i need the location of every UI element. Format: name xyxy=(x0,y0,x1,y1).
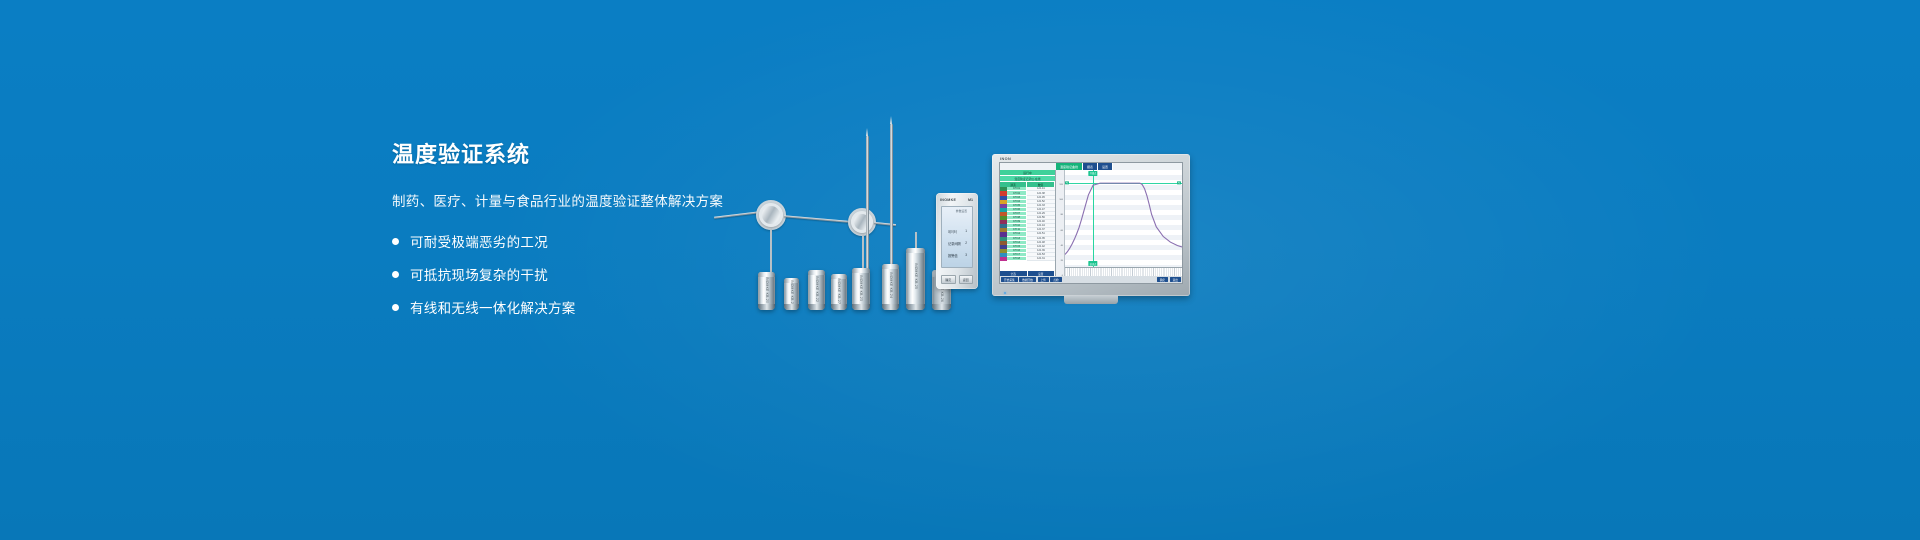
row-channel: CH 18 xyxy=(1007,257,1027,261)
probe-base xyxy=(808,304,825,310)
hero-banner: 温度验证系统 制药、医疗、计量与食品行业的温度验证整体解决方案 可耐受极端恶劣的… xyxy=(0,0,1920,540)
y-tick-label: 140 xyxy=(1059,169,1063,171)
row-color-swatch xyxy=(1000,257,1007,261)
bullet-dot-icon xyxy=(392,304,399,311)
tabbar-spacer-left xyxy=(1000,163,1056,170)
chart-series-svg xyxy=(1065,170,1182,267)
probe-cap xyxy=(906,248,925,253)
sensor-probe: INOMKE KB-24 xyxy=(882,264,899,310)
confirm-button[interactable]: 确定 xyxy=(1157,277,1168,283)
software-tabbar: 温度验证曲线 报表 设置 xyxy=(1000,163,1182,170)
list-item: 可抵抗现场复杂的干扰 xyxy=(392,264,792,284)
probe-label: INOMKE KB-27 xyxy=(837,278,841,304)
y-tick-label: 20 xyxy=(1061,260,1063,262)
y-tick-label: 80 xyxy=(1061,214,1063,216)
probe-label: INOMKE KB-24 xyxy=(889,272,893,298)
playback-button[interactable]: 数据回放 xyxy=(1019,277,1036,283)
handheld-row-value: 1 xyxy=(965,229,967,234)
probe-cap xyxy=(882,264,899,269)
y-tick-label: 40 xyxy=(1061,245,1063,247)
monitor-stand xyxy=(1064,296,1118,304)
handheld-row: 데이터 1 xyxy=(948,229,967,234)
channel-table: 运行中 温度验证记录仪-在线 通道 数值 CH 01121.41CH 02121… xyxy=(1000,170,1056,276)
table-body: CH 01121.41CH 02121.38CH 03121.45CH 0412… xyxy=(1000,187,1055,271)
bullet-dot-icon xyxy=(392,271,399,278)
upload-button[interactable]: 上传 xyxy=(1038,277,1049,283)
sensor-probe: INOMKE KB-23 xyxy=(852,268,870,310)
feature-label: 有线和无线一体化解决方案 xyxy=(410,297,576,317)
software-bottom-toolbar: 开始采集 数据回放 上传 点检 确定 退出 xyxy=(1000,276,1182,283)
page-title: 温度验证系统 xyxy=(392,142,792,168)
probe-label: INOMKE KB-22 xyxy=(815,276,819,302)
probe-label: INOMKE KB-25 xyxy=(914,263,918,289)
sensor-probe: INOMKE KB-27 xyxy=(831,274,847,310)
hero-copy: 温度验证系统 制药、医疗、计量与食品行业的温度验证整体解决方案 可耐受极端恶劣的… xyxy=(392,142,792,330)
software-body: 运行中 温度验证记录仪-在线 通道 数值 CH 01121.41CH 02121… xyxy=(1000,170,1182,276)
page-subtitle: 制药、医疗、计量与食品行业的温度验证整体解决方案 xyxy=(392,190,792,210)
handheld-screen: 参数设置 데이터 1 记录间隔 2 报警值 3 xyxy=(941,206,973,268)
y-tick-label: 0 xyxy=(1062,275,1063,277)
sensor-probe: INOMKE KB-25 xyxy=(906,248,925,310)
tab-settings[interactable]: 设置 xyxy=(1098,163,1113,170)
monitor-brand: INON xyxy=(1000,157,1011,161)
handheld-screen-title: 参数设置 xyxy=(956,209,967,213)
handheld-reader-device[interactable]: INOMKE M1 参数设置 데이터 1 记录间隔 2 报警值 3 确定 xyxy=(936,193,978,289)
probe-base xyxy=(831,304,847,310)
toolbar-gap xyxy=(1063,277,1155,283)
needle-probe-taller xyxy=(890,124,893,272)
check-button[interactable]: 点检 xyxy=(1050,277,1061,283)
feature-label: 可耐受极端恶劣的工况 xyxy=(410,231,548,251)
list-item: 有线和无线一体化解决方案 xyxy=(392,297,792,317)
handheld-row-value: 3 xyxy=(965,253,967,258)
feature-list: 可耐受极端恶劣的工况 可抵抗现场复杂的干扰 有线和无线一体化解决方案 xyxy=(392,231,792,317)
chart-x-axis[interactable] xyxy=(1065,267,1182,276)
panel-monitor: INON 温度验证曲线 报表 设置 运行中 温度验证记录仪-在线 xyxy=(992,154,1190,296)
bullet-dot-icon xyxy=(392,238,399,245)
handheld-brand: INOMKE xyxy=(940,198,956,202)
temperature-chart: 020406080100120140 F0 F0 开始点 结束点 xyxy=(1056,170,1182,276)
power-led-icon xyxy=(1004,292,1006,294)
needle-probe-tall xyxy=(866,136,869,272)
probe-label: INOMKE KB-23 xyxy=(859,275,863,301)
handheld-row-label: 记录间隔 xyxy=(948,241,961,246)
probe-base xyxy=(882,304,899,310)
handheld-row-value: 2 xyxy=(965,241,967,246)
table-row[interactable]: CH 18121.31 xyxy=(1000,257,1055,261)
probe-stem xyxy=(915,232,917,248)
probe-cap xyxy=(852,268,870,273)
handheld-row: 报警值 3 xyxy=(948,253,967,258)
handheld-row-label: 报警值 xyxy=(948,253,958,258)
chart-plot-area: F0 F0 开始点 结束点 xyxy=(1065,170,1182,267)
probe-base xyxy=(932,304,951,310)
y-tick-label: 120 xyxy=(1059,184,1063,186)
sensor-probe: INOMKE KB-22 xyxy=(808,270,825,310)
handheld-row-label: 데이터 xyxy=(948,229,957,234)
list-item: 可耐受极端恶劣的工况 xyxy=(392,231,792,251)
handheld-back-button[interactable]: 返回 xyxy=(959,275,974,284)
probe-base xyxy=(852,304,870,310)
handheld-confirm-button[interactable]: 确定 xyxy=(941,275,956,284)
handheld-model: M1 xyxy=(968,198,973,202)
feature-label: 可抵抗现场复杂的干扰 xyxy=(410,264,548,284)
probe-cap xyxy=(808,270,825,275)
row-value: 121.31 xyxy=(1027,257,1055,261)
probe-base xyxy=(906,304,925,310)
exit-button[interactable]: 退出 xyxy=(1170,277,1181,283)
chart-y-axis: 020406080100120140 xyxy=(1056,170,1065,276)
y-tick-label: 60 xyxy=(1061,230,1063,232)
handheld-button-row: 确定 返回 xyxy=(941,275,973,284)
tab-report[interactable]: 报表 xyxy=(1083,163,1098,170)
y-tick-label: 100 xyxy=(1059,199,1063,201)
monitor-screen: 温度验证曲线 报表 设置 运行中 温度验证记录仪-在线 通道 数值 CH xyxy=(999,162,1183,284)
start-capture-button[interactable]: 开始采集 xyxy=(1001,277,1018,283)
handheld-row: 记录间隔 2 xyxy=(948,241,967,246)
tabbar-spacer-right xyxy=(1113,163,1182,170)
